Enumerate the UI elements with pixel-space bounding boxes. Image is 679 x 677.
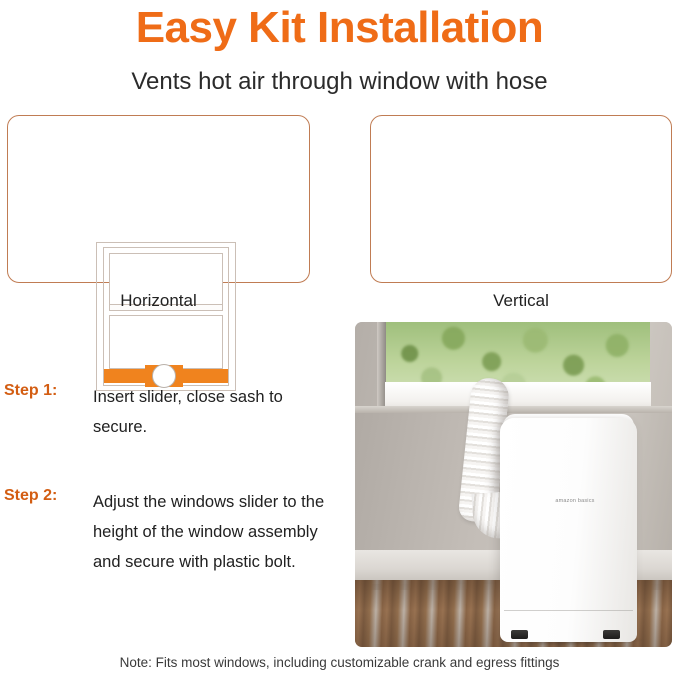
lower-sash bbox=[109, 315, 223, 369]
step-1-label: Step 1: bbox=[4, 382, 57, 400]
step-2-label: Step 2: bbox=[4, 487, 57, 505]
photo-ac-brand-logo: amazon basics bbox=[545, 498, 605, 504]
photo-ac-caster-right bbox=[603, 630, 620, 639]
page-title: Easy Kit Installation bbox=[0, 2, 679, 54]
product-installation-photo: amazon basics bbox=[355, 322, 672, 647]
horizontal-window-illustration bbox=[96, 242, 236, 391]
photo-wall-rail bbox=[355, 406, 672, 413]
photo-ac-unit-body bbox=[500, 418, 637, 642]
photo-ac-panel-seam bbox=[504, 610, 633, 611]
step-1-text: Insert slider, close sash to secure. bbox=[93, 382, 338, 442]
diagram-caption-vertical: Vertical bbox=[370, 291, 672, 311]
page-subtitle: Vents hot air through window with hose bbox=[0, 66, 679, 98]
installation-infographic: Easy Kit Installation Vents hot air thro… bbox=[0, 0, 679, 677]
footer-note: Note: Fits most windows, including custo… bbox=[0, 655, 679, 670]
step-2-text: Adjust the windows slider to the height … bbox=[93, 487, 338, 577]
diagram-caption-horizontal: Horizontal bbox=[7, 291, 310, 311]
diagram-card-vertical bbox=[370, 115, 672, 283]
photo-ac-caster-left bbox=[511, 630, 528, 639]
diagram-card-horizontal bbox=[7, 115, 310, 283]
